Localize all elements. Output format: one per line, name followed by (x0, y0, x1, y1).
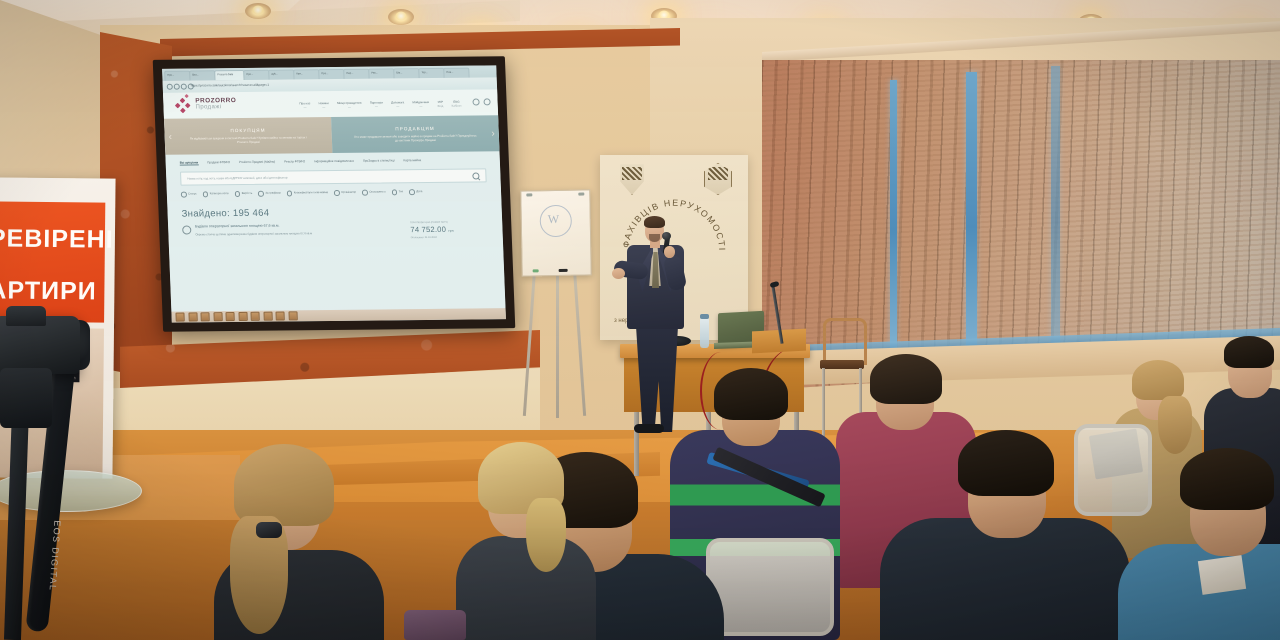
carousel-prev-icon[interactable]: ‹ (168, 132, 172, 143)
circular-text: ФАХІВЦІВ НЕРУХОМОСТІ УКРАЇНИ (615, 192, 727, 252)
desk-leg (634, 408, 639, 476)
promo-buyers-text: Як відбуваються аукціони в системі ProZo… (187, 135, 310, 144)
browser-tab-label: Нер... (344, 70, 368, 75)
tab-fgvfo-registry[interactable]: Реєстр ФГВФО (284, 159, 305, 164)
browser-tab-label: Бір... (394, 69, 418, 74)
filter-dot-icon (362, 190, 368, 196)
handbag[interactable] (404, 610, 466, 640)
filter-dot-icon (334, 190, 340, 196)
camera-grip (0, 368, 52, 428)
person-hair (1180, 448, 1274, 510)
start-icon[interactable] (175, 313, 184, 322)
window-light-gap (1051, 66, 1060, 350)
browser-tab-label: Реє... (369, 69, 393, 74)
browser-tab-label: Про... (244, 71, 268, 76)
tab-fgvfo-sales[interactable]: Продажі ФГВФО (207, 160, 230, 165)
person-hair (870, 354, 942, 404)
browser-tab-label: Кри... (294, 70, 318, 75)
filter-price[interactable]: Вартість (234, 191, 252, 197)
nav-sub: — (370, 105, 383, 109)
chair-backrest (706, 538, 834, 636)
person-hair (1132, 360, 1184, 400)
carousel-next-icon[interactable]: › (491, 128, 495, 139)
tab-prozorro-property[interactable]: ProZorro.Продажі (Майно) (239, 160, 275, 165)
auction-listing-row[interactable]: Будівля операторної загальною площею 67,… (168, 219, 503, 241)
filter-dot-icon (287, 190, 293, 196)
filter-dot-icon (202, 191, 208, 197)
filter-status[interactable]: Статус (181, 191, 197, 197)
forward-icon[interactable] (174, 84, 180, 90)
projected-browser-window: Про... Вхо... Prozorro.Sale Про... Ауk..… (162, 65, 506, 322)
filter-schedule[interactable]: За графіком (258, 191, 281, 197)
browser-tab-label: Про... (165, 72, 189, 77)
site-logo[interactable]: PROZORRO Продажі (195, 97, 236, 111)
conference-room-photo: Про... Вхо... Prozorro.Sale Про... Ауk..… (0, 0, 1280, 640)
flipchart-leg (556, 268, 559, 418)
nav-sub: — (300, 106, 311, 110)
filter-dot-icon (234, 191, 240, 197)
promo-sellers-title: ПРОДАВЦЯМ (395, 126, 435, 131)
price-value: 74 752.00 грн (410, 224, 488, 234)
person-ponytail (1158, 396, 1192, 454)
filter-label: Організатор (341, 191, 356, 194)
window-icon[interactable] (288, 311, 297, 320)
nav-sub: — (391, 105, 404, 109)
chair-seat (820, 360, 864, 369)
skype-icon[interactable] (213, 312, 222, 321)
search-icon[interactable] (472, 99, 479, 106)
magnifier-icon[interactable] (472, 172, 479, 179)
prozorro-logo-icon (175, 99, 193, 114)
tab-info-notice[interactable]: Інформаційне повідомлення (314, 159, 354, 164)
search-placeholder: Назва лоту, код лоту, назва або ЄДРПОУ к… (187, 175, 287, 180)
camera-pentaprism (6, 306, 46, 326)
banner-line-1: РЕВІРЕНІ (0, 201, 105, 254)
audience-chair[interactable] (706, 538, 826, 628)
filter-category[interactable]: Категорія лотів (202, 191, 228, 197)
nav-item-lang[interactable]: УКРВхід (437, 101, 443, 108)
person-body (1118, 544, 1280, 640)
filter-dot-icon (258, 191, 264, 197)
promo-sellers-text: Хто може продавати активи або заводити м… (354, 134, 477, 143)
filter-label: Вартість (242, 192, 253, 195)
banner-line-2: АРТИРИ (0, 253, 105, 306)
nav-item-account[interactable]: ENGКабінет (451, 101, 461, 108)
viber-icon[interactable] (225, 312, 234, 321)
nav-item[interactable]: Допомога— (391, 101, 404, 108)
folder-icon[interactable] (188, 312, 197, 321)
logo-line-2: Продажі (195, 104, 236, 111)
results-count: Знайдено: 195 464 (167, 194, 502, 222)
app-icon[interactable] (263, 312, 272, 321)
speaker-beard (649, 234, 660, 242)
filter-label: За графіком (265, 192, 280, 195)
promo-sellers[interactable]: ПРОДАВЦЯМ Хто може продавати активи або … (331, 115, 499, 153)
filter-dot-icon (409, 189, 415, 195)
window-light-gap (890, 80, 897, 352)
circle-sketch (540, 205, 573, 238)
coat-of-arms-right-icon (704, 163, 730, 193)
person-hair (714, 368, 788, 420)
tab-property-map[interactable]: Карта майна (403, 158, 421, 163)
nav-item[interactable]: Майданчики— (412, 101, 429, 108)
filter-organizer[interactable]: Організатор (334, 190, 356, 196)
nav-item[interactable]: Про нас— (299, 102, 310, 109)
speaker-shoes (634, 424, 664, 433)
browser-tab-label: Про... (319, 70, 343, 75)
flipchart (520, 189, 591, 276)
marker-tray-item (559, 269, 568, 272)
window-light-gap (966, 72, 977, 354)
filter-announced-from[interactable]: Оголошено з (362, 189, 386, 195)
filter-label: Дата (416, 190, 422, 193)
filter-type[interactable]: Тип (391, 189, 403, 195)
chrome-icon[interactable] (200, 312, 209, 321)
filter-dot-icon (391, 189, 397, 195)
promo-buyers-title: ПОКУПЦЯМ (230, 128, 265, 133)
os-taskbar (171, 308, 506, 323)
price-amount: 74 752.00 (410, 224, 446, 233)
filter-date[interactable]: Дата (409, 189, 422, 195)
browser-tab-label: Prozorro.Sale (215, 71, 243, 76)
audience-chair[interactable] (1074, 424, 1144, 508)
nav-sub: — (413, 105, 430, 109)
water-bottle[interactable] (700, 318, 709, 348)
reload-icon[interactable] (181, 84, 187, 90)
site-navigation: Про нас— Новини— Місця проведення— Партн… (299, 101, 461, 110)
banner-headline-block: РЕВІРЕНІ АРТИРИ (0, 201, 105, 322)
listing-description: Окремо стояча цегляна одноповерхова буді… (195, 230, 385, 236)
tab-all-auctions[interactable]: Всі аукціони (180, 160, 199, 165)
svg-text:ФАХІВЦІВ НЕРУХОМОСТІ УКРАЇНИ: ФАХІВЦІВ НЕРУХОМОСТІ УКРАЇНИ (615, 192, 727, 252)
nav-sub: — (319, 106, 329, 110)
filter-classifier[interactable]: Класифікатори типів майна (287, 190, 329, 196)
person-hair (1224, 336, 1274, 368)
person-hair (958, 430, 1054, 496)
browser-tab-label: Нов... (444, 69, 468, 74)
nav-item[interactable]: Новини— (319, 102, 329, 109)
app-icon-2[interactable] (275, 311, 284, 320)
chair-backrest (823, 318, 867, 365)
marker-tray-item (533, 269, 539, 272)
back-icon[interactable] (167, 84, 173, 90)
bottle-cap (700, 314, 709, 319)
flipchart-clip (526, 193, 532, 196)
listing-price-block: ПОЧАТКОВА ЦІНА (РОЗМІР ЛОТУ) 74 752.00 г… (406, 221, 489, 239)
hair-clip (256, 522, 282, 538)
person-braid (526, 498, 566, 572)
nav-item[interactable]: Місця проведення— (337, 102, 362, 109)
opera-icon[interactable] (238, 312, 247, 321)
notepad[interactable] (1198, 555, 1246, 595)
chair-backrest (1074, 424, 1152, 516)
listing-body: Будівля операторної загальною площею 67,… (195, 222, 407, 236)
speaker-left-hand (612, 268, 625, 279)
browser-tab-label: Ауk... (269, 70, 293, 75)
browser-tab-label: Вхо... (190, 71, 214, 76)
calc-icon[interactable] (250, 312, 259, 321)
building-icon (182, 225, 191, 234)
promo-buyers[interactable]: ПОКУПЦЯМ Як відбуваються аукціони в сист… (164, 117, 332, 155)
microphone-head-icon (662, 232, 671, 240)
price-currency: грн (448, 228, 453, 232)
speaker-right-hand (664, 246, 675, 258)
prozorro-website: PROZORRO Продажі Про нас— Новини— Місця … (163, 89, 506, 311)
filter-label: Тип (399, 191, 404, 194)
ceiling-spotlight (245, 3, 271, 19)
speaker-hair (644, 216, 665, 228)
tab-statistics[interactable]: ПроЗорро в статистиці (363, 158, 395, 163)
nav-sub: Вхід (438, 104, 444, 108)
nav-sub: Кабінет (452, 104, 462, 108)
person-hair (234, 444, 334, 526)
nav-sub: — (337, 105, 362, 109)
person-body (456, 536, 596, 640)
filter-label: Статус (188, 193, 197, 196)
filter-label: Класифікатори типів майна (294, 191, 328, 194)
nav-item[interactable]: Партнери— (370, 102, 383, 109)
filter-label: Категорія лотів (210, 192, 229, 195)
flipchart-clip (578, 192, 584, 195)
chair-leg (822, 368, 825, 440)
gear-icon[interactable] (483, 98, 490, 105)
listing-title[interactable]: Будівля операторної загальною площею 67,… (195, 222, 406, 229)
site-header: PROZORRO Продажі Про нас— Новини— Місця … (163, 89, 498, 118)
projection-screen: Про... Вхо... Prozorro.Sale Про... Ауk..… (153, 56, 516, 331)
address-bar-url: https://prozorro.sale/auctions/search?so… (191, 82, 269, 87)
browser-tab-label: Тор... (419, 69, 443, 74)
coat-of-arms-left-icon (618, 163, 644, 193)
filter-dot-icon (181, 192, 187, 198)
ceiling-spotlight (388, 9, 414, 25)
announced-date: Оголошено: 24.10.2018 (411, 235, 489, 239)
promo-banner: ‹ › ПОКУПЦЯМ Як відбуваються аукціони в … (164, 115, 499, 154)
filter-label: Оголошено з (369, 191, 385, 194)
